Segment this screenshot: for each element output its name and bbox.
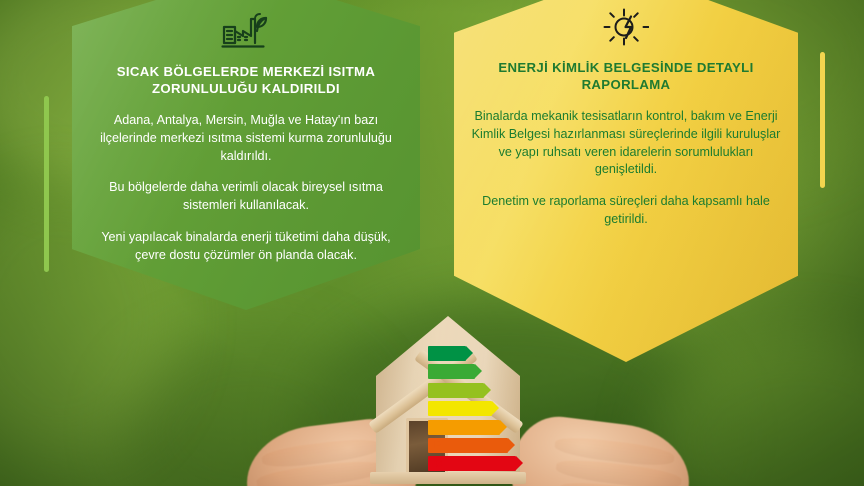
infographic-canvas: A B C D E (0, 0, 864, 486)
energy-rating-row: F (428, 438, 520, 453)
accent-rule-left (44, 96, 49, 272)
energy-rating-row: G (428, 456, 520, 471)
panel-title: ENERJİ KİMLİK BELGESİNDE DETAYLI RAPORLA… (470, 60, 782, 94)
panel-paragraph: Yeni yapılacak binalarda enerji tüketimi… (88, 229, 404, 265)
energy-rating-row: E (428, 420, 520, 435)
panel-paragraph: Binalarda mekanik tesisatların kontrol, … (470, 108, 782, 180)
energy-rating-row: C (428, 383, 520, 398)
panel-body: Adana, Antalya, Mersin, Muğla ve Hatay'ı… (88, 112, 404, 265)
panel-paragraph: Adana, Antalya, Mersin, Muğla ve Hatay'ı… (88, 112, 404, 166)
energy-efficiency-rating-label: A B C D E (428, 346, 520, 475)
energy-rating-bar-b: B (428, 364, 475, 379)
panel-title: SICAK BÖLGELERDE MERKEZİ ISITMA ZORUNLUL… (88, 64, 404, 98)
energy-rating-bar-a: A (428, 346, 466, 361)
accent-rule-right (820, 52, 825, 188)
energy-rating-grade: A (434, 348, 442, 360)
wooden-model-house: A B C D E (352, 300, 542, 486)
energy-rating-grade: F (434, 439, 441, 451)
panel-paragraph: Denetim ve raporlama süreçleri daha kaps… (470, 193, 782, 229)
energy-rating-bar-e: E (428, 420, 500, 435)
energy-rating-bar-d: D (428, 401, 492, 416)
energy-rating-grade: D (434, 403, 442, 415)
energy-rating-grade: C (434, 384, 442, 396)
panel-left-central-heating: SICAK BÖLGELERDE MERKEZİ ISITMA ZORUNLUL… (72, 0, 420, 310)
sun-lightning-icon (470, 4, 782, 50)
energy-rating-row: B (428, 364, 520, 379)
energy-rating-bar-c: C (428, 383, 484, 398)
energy-rating-bar-f: F (428, 438, 508, 453)
energy-rating-grade: B (434, 366, 442, 378)
energy-rating-grade: G (434, 458, 443, 470)
panel-body: Binalarda mekanik tesisatların kontrol, … (470, 108, 782, 229)
factory-leaf-icon (88, 8, 404, 54)
energy-rating-row: D (428, 401, 520, 416)
energy-rating-bar-g: G (428, 456, 516, 471)
panel-paragraph: Bu bölgelerde daha verimli olacak bireys… (88, 179, 404, 215)
energy-rating-grade: E (434, 421, 441, 433)
energy-rating-row: A (428, 346, 520, 361)
